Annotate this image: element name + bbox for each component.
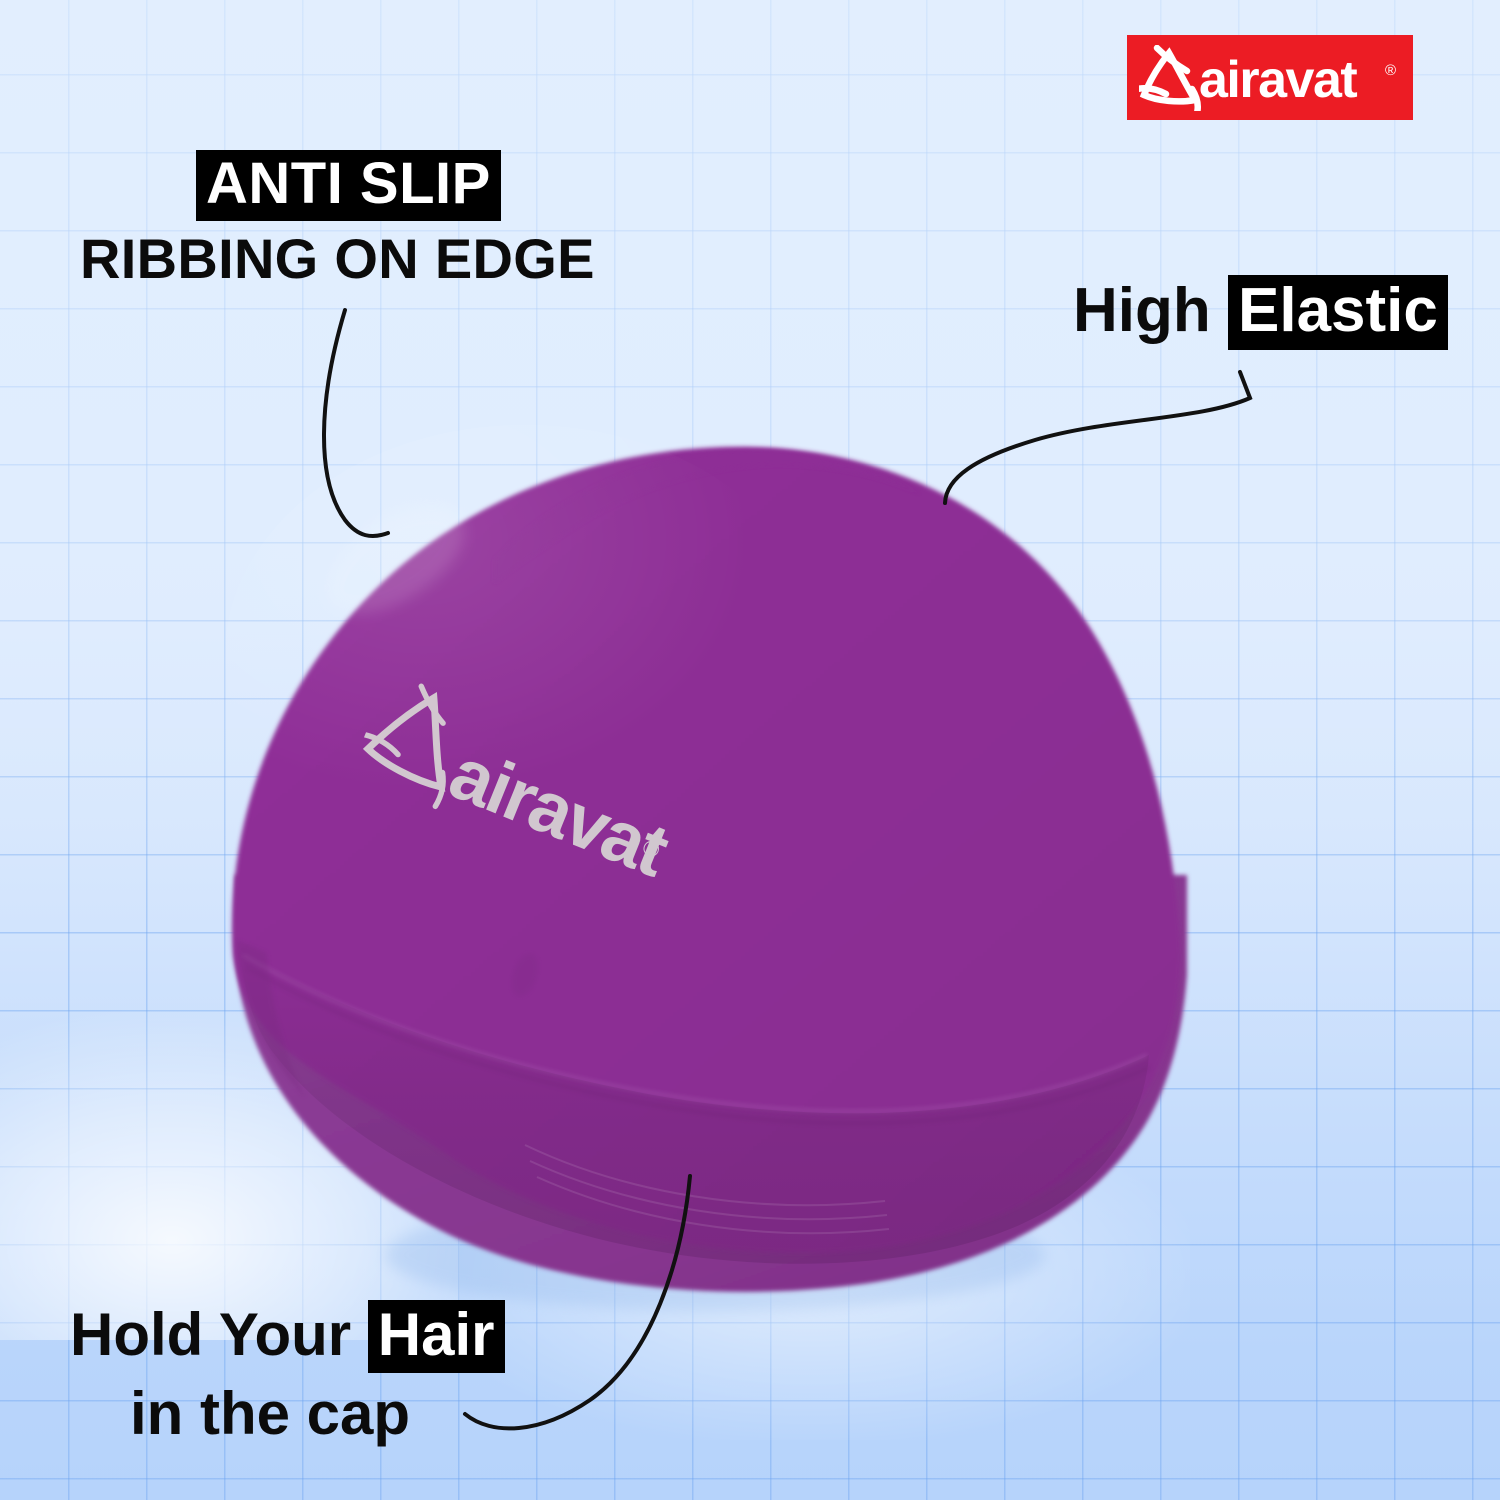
swim-cap-image: [195, 355, 1215, 1325]
svg-text:airavat: airavat: [1199, 51, 1357, 109]
callout-hold-hair-highlight: Hair: [368, 1300, 505, 1373]
callout-high-elastic: High Elastic: [1073, 275, 1448, 350]
callout-hold-hair-subtext: in the cap: [130, 1383, 505, 1444]
callout-anti-slip-highlight: ANTI SLIP: [196, 150, 501, 221]
airavat-logo-icon: airavat ®: [1139, 45, 1401, 111]
callout-high-elastic-highlight: Elastic: [1228, 275, 1448, 350]
brand-logo-badge: airavat ®: [1127, 35, 1413, 120]
callout-high-elastic-plain: High: [1073, 279, 1211, 342]
product-infographic-canvas: airavat ® airavat ® ANTI SLIP RIBBING ON: [0, 0, 1500, 1500]
callout-hold-hair-plain: Hold Your: [70, 1304, 351, 1365]
svg-text:®: ®: [1385, 62, 1396, 79]
callout-anti-slip-subtext: RIBBING ON EDGE: [80, 230, 595, 287]
callout-hold-hair: Hold Your Hair in the cap: [70, 1300, 505, 1444]
callout-anti-slip: ANTI SLIP RIBBING ON EDGE: [80, 150, 595, 287]
